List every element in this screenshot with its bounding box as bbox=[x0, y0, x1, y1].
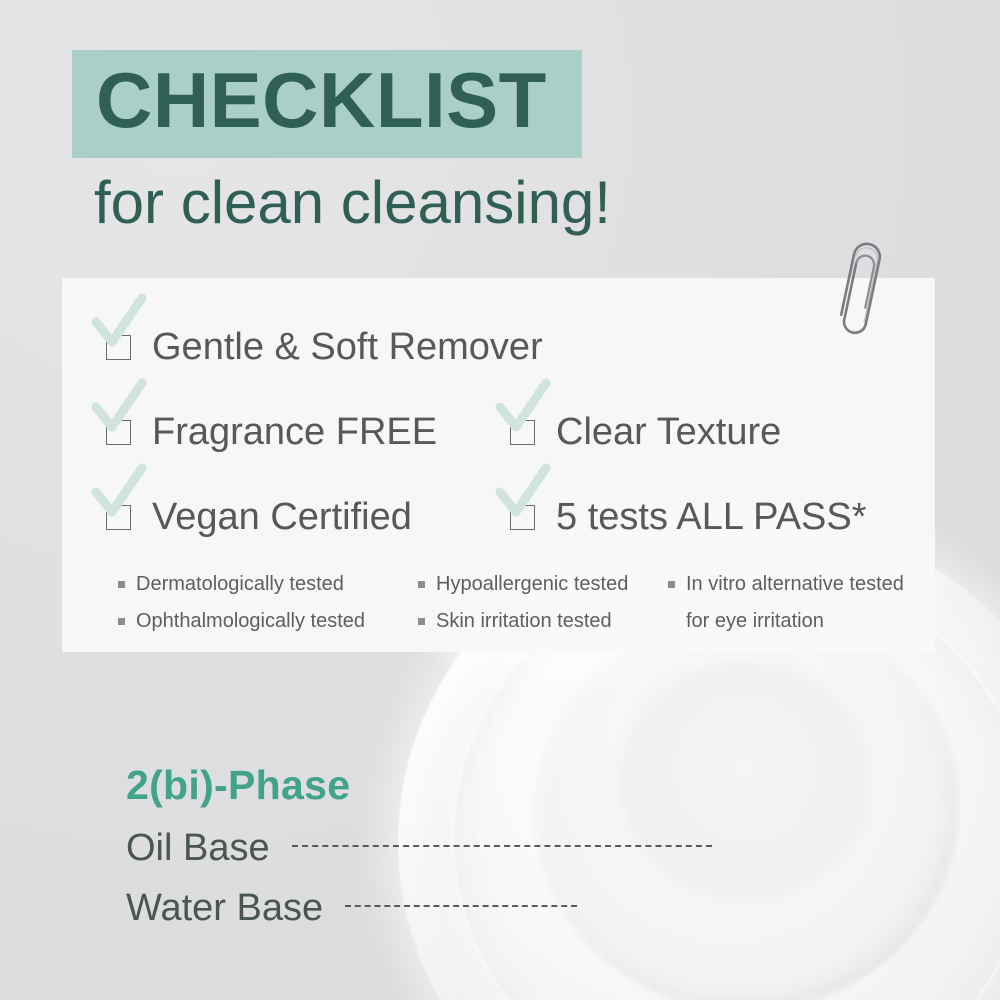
checkbox[interactable] bbox=[510, 505, 535, 530]
test-list-item: Hypoallergenic tested bbox=[418, 570, 668, 598]
checklist-row: Fragrance FREE bbox=[106, 411, 437, 453]
page-subtitle: for clean cleansing! bbox=[72, 166, 772, 240]
bullet-icon bbox=[118, 581, 125, 588]
phase-label: Water Base bbox=[126, 886, 323, 930]
dashed-leader-line bbox=[345, 905, 577, 907]
checklist-item-label: Gentle & Soft Remover bbox=[152, 326, 543, 368]
phase-label: Oil Base bbox=[126, 826, 270, 870]
phase-title: 2(bi)-Phase bbox=[126, 760, 712, 810]
checklist-item-5-tests-all-pass[interactable]: 5 tests ALL PASS* bbox=[510, 496, 867, 538]
page-title: CHECKLIST bbox=[72, 44, 571, 156]
bullet-icon bbox=[118, 618, 125, 625]
test-list-item-continuation: for eye irritation bbox=[668, 607, 928, 635]
checkbox[interactable] bbox=[106, 505, 131, 530]
test-list-item: Ophthalmologically tested bbox=[118, 607, 418, 635]
checklist-item-label: Vegan Certified bbox=[152, 496, 412, 538]
checklist-row: Vegan Certified bbox=[106, 496, 412, 538]
checkbox[interactable] bbox=[510, 420, 535, 445]
checklist-card: Gentle & Soft Remover Fragrance FREE Cle… bbox=[62, 278, 935, 652]
title-block: CHECKLIST for clean cleansing! bbox=[72, 44, 772, 240]
test-list-item: Skin irritation tested bbox=[418, 607, 668, 635]
test-list-item-label: Hypoallergenic tested bbox=[436, 570, 628, 598]
test-list-item-label: Dermatologically tested bbox=[136, 570, 344, 598]
checklist-item-label: 5 tests ALL PASS* bbox=[556, 496, 867, 538]
checklist-item-label: Clear Texture bbox=[556, 411, 781, 453]
title-highlight-wrap: CHECKLIST bbox=[72, 44, 571, 156]
checklist-row: Gentle & Soft Remover bbox=[106, 326, 543, 368]
test-list-item: In vitro alternative tested bbox=[668, 570, 928, 598]
checklist-item-gentle-soft-remover[interactable]: Gentle & Soft Remover bbox=[106, 326, 543, 368]
phase-block: 2(bi)-Phase Oil Base Water Base bbox=[126, 760, 712, 930]
test-list-item-label: for eye irritation bbox=[686, 607, 824, 635]
test-list-item-label: Skin irritation tested bbox=[436, 607, 612, 635]
phase-row-oil-base: Oil Base bbox=[126, 826, 712, 870]
checkbox[interactable] bbox=[106, 335, 131, 360]
test-list-item: Dermatologically tested bbox=[118, 570, 418, 598]
bullet-icon bbox=[418, 581, 425, 588]
checklist-row: Clear Texture bbox=[510, 411, 781, 453]
paperclip-icon bbox=[828, 222, 892, 346]
dashed-leader-line bbox=[292, 845, 712, 847]
phase-row-water-base: Water Base bbox=[126, 886, 712, 930]
checklist-item-vegan-certified[interactable]: Vegan Certified bbox=[106, 496, 412, 538]
checkbox[interactable] bbox=[106, 420, 131, 445]
test-list-item-label: Ophthalmologically tested bbox=[136, 607, 365, 635]
checklist-item-clear-texture[interactable]: Clear Texture bbox=[510, 411, 781, 453]
bullet-icon bbox=[668, 581, 675, 588]
checklist-row: 5 tests ALL PASS* bbox=[510, 496, 867, 538]
tests-list: Dermatologically tested Hypoallergenic t… bbox=[118, 570, 928, 635]
test-list-item-label: In vitro alternative tested bbox=[686, 570, 904, 598]
poster-canvas: CHECKLIST for clean cleansing! Gentle & … bbox=[0, 0, 1000, 1000]
bullet-icon bbox=[418, 618, 425, 625]
bullet-spacer bbox=[668, 618, 675, 625]
checklist-item-label: Fragrance FREE bbox=[152, 411, 437, 453]
checklist-item-fragrance-free[interactable]: Fragrance FREE bbox=[106, 411, 437, 453]
